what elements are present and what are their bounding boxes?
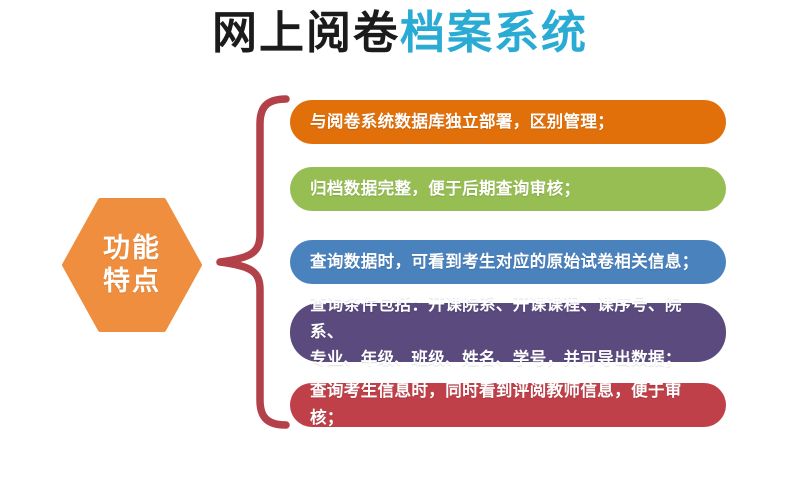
page-title-primary: 网上阅卷 [212, 7, 400, 58]
hexagon-node: 功能 特点 [62, 198, 202, 332]
feature-bar-5[interactable]: 查询考生信息时，同时看到评阅教师信息，便于审核； [290, 383, 726, 427]
feature-bar-1[interactable]: 与阅卷系统数据库独立部署，区别管理； [290, 100, 726, 144]
feature-bar-3-text: 查询数据时，可看到考生对应的原始试卷相关信息； [310, 249, 699, 276]
feature-bar-2[interactable]: 归档数据完整，便于后期查询审核； [290, 167, 726, 211]
page-title: 网上阅卷档案系统 [0, 4, 800, 62]
feature-bar-4-text: 查询条件包括：开课院系、开课课程、课序号、院系、 专业、年级、班级、姓名、学号，… [310, 292, 706, 373]
feature-bar-5-text: 查询考生信息时，同时看到评阅教师信息，便于审核； [310, 378, 706, 432]
curly-brace-icon [214, 94, 290, 430]
brace-connector [214, 94, 290, 430]
feature-bar-2-text: 归档数据完整，便于后期查询审核； [310, 176, 580, 203]
feature-bar-1-text: 与阅卷系统数据库独立部署，区别管理； [310, 109, 614, 136]
page-title-accent: 档案系统 [400, 7, 588, 58]
hexagon-label-line-1: 功能 [103, 232, 161, 265]
hexagon-label-line-2: 特点 [103, 265, 161, 298]
hexagon-label: 功能 特点 [62, 198, 202, 332]
feature-bar-3[interactable]: 查询数据时，可看到考生对应的原始试卷相关信息； [290, 240, 726, 284]
feature-bar-4[interactable]: 查询条件包括：开课院系、开课课程、课序号、院系、 专业、年级、班级、姓名、学号，… [290, 303, 726, 362]
